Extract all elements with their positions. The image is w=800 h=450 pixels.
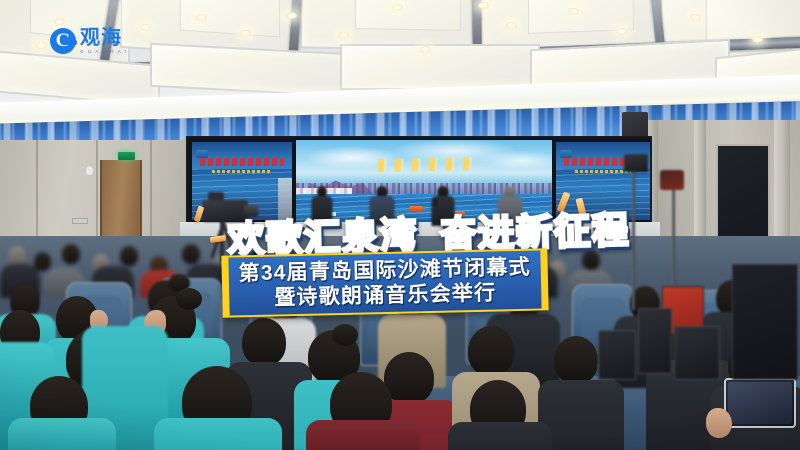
ceiling-downlight bbox=[240, 30, 251, 37]
ceiling-downlight bbox=[392, 4, 403, 11]
ceiling-downlight bbox=[690, 14, 701, 21]
ceiling-downlight bbox=[36, 42, 47, 49]
production-equipment-right bbox=[614, 160, 800, 380]
logo-letter: G bbox=[56, 31, 71, 50]
ceiling-downlight bbox=[54, 18, 65, 25]
ceiling-downlight bbox=[140, 24, 151, 31]
ceiling-downlight bbox=[506, 22, 517, 29]
exit-sign-icon bbox=[118, 152, 135, 160]
logo-text-block: 观海 G U A N H A I bbox=[80, 28, 128, 55]
security-camera-icon bbox=[86, 166, 93, 175]
camera-viewfinder bbox=[208, 192, 224, 200]
ceiling-downlight bbox=[616, 28, 627, 35]
screenshot-root: 欢歌汇泉湾奋进新征程 第34届青岛国际沙滩节闭幕式 暨诗歌朗诵音乐会举行 G 观… bbox=[0, 0, 800, 450]
handheld-phone bbox=[724, 378, 796, 428]
ceiling-downlight bbox=[420, 46, 431, 53]
wall-sign bbox=[72, 218, 88, 224]
flight-case bbox=[638, 308, 672, 374]
ceiling-downlight bbox=[338, 32, 349, 39]
ceiling-downlight bbox=[752, 36, 763, 43]
ceiling-downlight bbox=[568, 8, 579, 15]
ceiling-downlight bbox=[478, 2, 489, 9]
ceiling-downlight bbox=[286, 12, 297, 19]
subtitle-banner: 第34届青岛国际沙滩节闭幕式 暨诗歌朗诵音乐会举行 bbox=[221, 248, 548, 317]
ceiling-downlight bbox=[196, 14, 207, 21]
flight-case bbox=[598, 330, 636, 380]
screen-calligraphy bbox=[378, 157, 481, 172]
stage-light bbox=[624, 154, 648, 172]
stacked-cases bbox=[732, 264, 798, 380]
logo-brand-sub: G U A N H A I bbox=[80, 50, 128, 55]
logo-brand-cn: 观海 bbox=[80, 28, 128, 48]
banner-line-2: 暨诗歌朗诵音乐会举行 bbox=[274, 281, 496, 310]
guanhai-watermark-logo: G 观海 G U A N H A I bbox=[50, 28, 128, 55]
logo-g-icon: G bbox=[50, 28, 76, 54]
light-head bbox=[660, 170, 684, 190]
flight-case bbox=[674, 326, 720, 380]
